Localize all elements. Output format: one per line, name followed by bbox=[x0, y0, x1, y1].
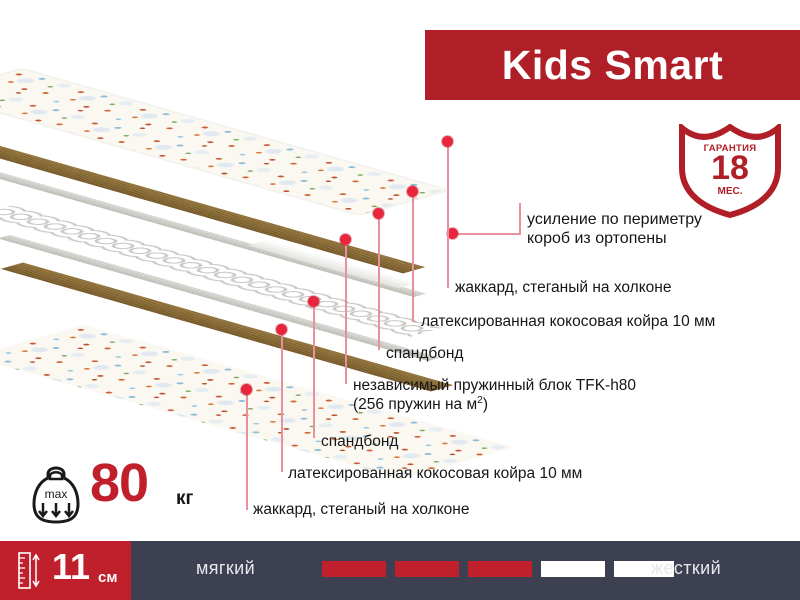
leader-coir-top bbox=[412, 190, 414, 322]
leader-jacquard-bottom bbox=[246, 388, 248, 510]
firmness-soft-label: мягкий bbox=[196, 558, 255, 579]
annotation-spunbond-bottom: спандбонд bbox=[321, 433, 398, 451]
dot-jacquard-bottom bbox=[241, 384, 252, 395]
annotation-coir-top: латексированная кокосовая койра 10 мм bbox=[421, 313, 715, 331]
dot-coir-top bbox=[407, 186, 418, 197]
max-load-value: 80 bbox=[90, 456, 148, 510]
height-block: 11 см bbox=[0, 541, 131, 600]
max-load-unit: кг bbox=[176, 488, 193, 510]
max-load-block: max 80 кг bbox=[28, 458, 228, 532]
dot-spring-block bbox=[340, 234, 351, 245]
height-value: 11 bbox=[52, 549, 90, 585]
leader-spunbond-top bbox=[378, 212, 380, 350]
annotation-spunbond-top: спандбонд bbox=[386, 345, 463, 363]
warranty-badge: ГАРАНТИЯ 18 МЕС. bbox=[678, 124, 782, 218]
firmness-segment-4 bbox=[541, 561, 605, 577]
warranty-bottom-label: МЕС. bbox=[678, 186, 782, 197]
kettlebell-max-label: max bbox=[45, 487, 68, 501]
annotation-perimeter: усиление по периметру короб из ортопены bbox=[527, 211, 702, 249]
dot-perimeter bbox=[447, 228, 458, 239]
product-title-banner: Kids Smart bbox=[425, 30, 800, 100]
ruler-icon bbox=[18, 552, 40, 589]
firmness-segment-2 bbox=[395, 561, 459, 577]
leader-spring-block bbox=[345, 238, 347, 384]
bottom-bar: 11 см мягкий жесткий bbox=[0, 541, 800, 600]
leader-jacquard-top bbox=[447, 140, 449, 288]
firmness-segment-1 bbox=[322, 561, 386, 577]
page-title: Kids Smart bbox=[502, 42, 723, 89]
leader-spunbond-bottom bbox=[313, 300, 315, 438]
kettlebell-icon: max bbox=[28, 460, 84, 526]
warranty-value: 18 bbox=[678, 151, 782, 185]
annotation-jacquard-top: жаккард, стеганый на холконе bbox=[455, 279, 671, 297]
annotation-jacquard-bottom: жаккард, стеганый на холконе bbox=[253, 501, 469, 519]
leader-perimeter bbox=[452, 233, 520, 235]
leader-perimeter-v bbox=[519, 203, 521, 235]
dot-jacquard-top bbox=[442, 136, 453, 147]
dot-coir-bottom bbox=[276, 324, 287, 335]
leader-coir-bottom bbox=[281, 328, 283, 472]
height-unit: см bbox=[98, 569, 117, 586]
mattress-illustration bbox=[0, 78, 510, 478]
annotation-spring-block: независимый пружинный блок TFK-h80 (256 … bbox=[353, 377, 636, 415]
dot-spunbond-top bbox=[373, 208, 384, 219]
firmness-hard-label: жесткий bbox=[651, 558, 721, 579]
firmness-segment-3 bbox=[468, 561, 532, 577]
dot-spunbond-bottom bbox=[308, 296, 319, 307]
annotation-coir-bottom: латексированная кокосовая койра 10 мм bbox=[288, 465, 582, 483]
